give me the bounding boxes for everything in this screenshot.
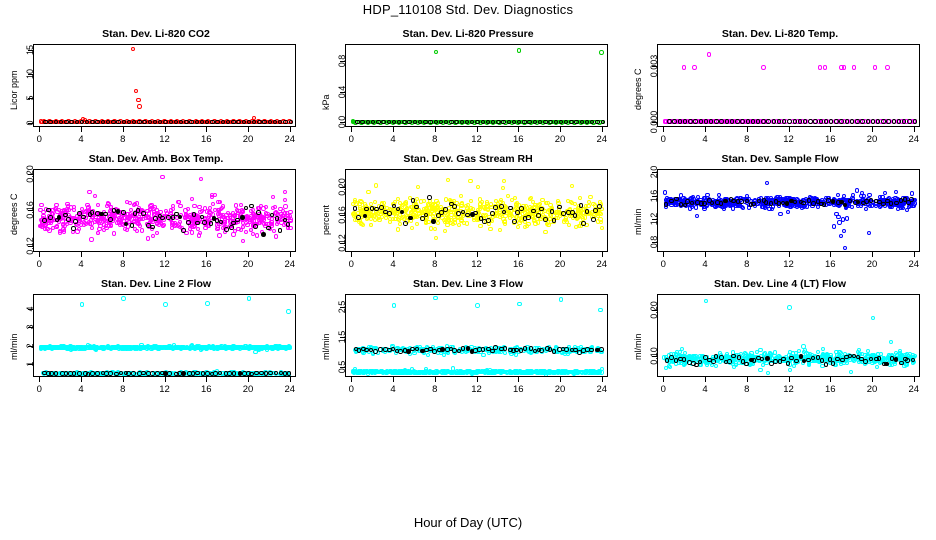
- x-tick-mark: [518, 252, 519, 257]
- data-point: [688, 119, 692, 123]
- x-tick-mark: [435, 377, 436, 382]
- data-point: [112, 345, 116, 349]
- x-tick-label: 4: [66, 259, 96, 270]
- data-point: [178, 215, 183, 220]
- x-tick-mark: [393, 252, 394, 257]
- data-point: [543, 217, 548, 222]
- data-point: [503, 346, 508, 351]
- data-point: [71, 226, 76, 231]
- data-point: [866, 119, 870, 123]
- x-tick-mark: [165, 127, 166, 132]
- y-tick-label: 2.0: [649, 156, 659, 188]
- data-point: [436, 221, 440, 225]
- data-point: [198, 210, 202, 214]
- data-point: [543, 230, 547, 234]
- data-point: [761, 119, 765, 123]
- data-point: [146, 236, 150, 240]
- data-point: [142, 120, 146, 124]
- x-tick-mark: [206, 252, 207, 257]
- data-point: [484, 205, 488, 209]
- x-tick-mark: [351, 252, 352, 257]
- data-point: [459, 202, 463, 206]
- data-point: [913, 119, 917, 123]
- x-tick-mark: [872, 127, 873, 132]
- data-point: [266, 345, 270, 349]
- data-point: [131, 47, 135, 51]
- data-point: [262, 120, 266, 124]
- data-point: [181, 228, 186, 233]
- data-point: [96, 231, 100, 235]
- data-point: [398, 222, 402, 226]
- data-point: [533, 221, 537, 225]
- plot-area: [345, 169, 608, 252]
- x-tick-label: 20: [233, 134, 263, 145]
- data-point: [459, 194, 463, 198]
- data-point: [253, 224, 258, 229]
- data-point: [55, 345, 59, 349]
- panel-title: Stan. Dev. Li-820 Temp.: [624, 28, 936, 40]
- plot-area: [33, 169, 296, 252]
- x-tick-mark: [602, 127, 603, 132]
- x-tick-mark: [789, 127, 790, 132]
- data-point: [272, 229, 276, 233]
- data-point: [287, 371, 292, 376]
- x-tick-label: 20: [857, 134, 887, 145]
- data-point: [516, 370, 520, 374]
- data-point: [723, 199, 728, 204]
- plot-area: [33, 294, 296, 377]
- data-point: [90, 120, 94, 124]
- data-point: [236, 120, 240, 124]
- data-point: [77, 219, 81, 223]
- data-point: [457, 223, 461, 227]
- data-point: [836, 215, 840, 219]
- x-tick-label: 8: [420, 134, 450, 145]
- data-point: [465, 221, 469, 225]
- data-point: [213, 346, 217, 350]
- data-point: [761, 65, 765, 69]
- data-point: [178, 204, 182, 208]
- x-tick-mark: [560, 127, 561, 132]
- x-tick-mark: [393, 127, 394, 132]
- data-point: [186, 220, 191, 225]
- x-tick-label: 4: [66, 134, 96, 145]
- x-tick-mark: [872, 252, 873, 257]
- data-point: [359, 369, 363, 373]
- data-point: [57, 215, 62, 220]
- x-tick-label: 16: [503, 134, 533, 145]
- data-point: [249, 372, 254, 377]
- data-point: [695, 214, 699, 218]
- plot-area: [345, 44, 608, 127]
- x-tick-mark: [435, 252, 436, 257]
- data-point: [288, 217, 292, 221]
- x-tick-label: 0: [648, 134, 678, 145]
- data-point: [836, 193, 840, 197]
- x-tick-mark: [39, 252, 40, 257]
- data-point: [526, 370, 530, 374]
- data-point: [96, 346, 100, 350]
- data-point: [64, 120, 68, 124]
- data-point: [173, 221, 177, 225]
- data-point: [499, 370, 503, 374]
- x-tick-mark: [477, 127, 478, 132]
- data-point: [215, 223, 219, 227]
- data-point: [403, 221, 408, 226]
- data-point: [832, 224, 836, 228]
- data-point: [449, 120, 453, 124]
- data-point: [95, 120, 99, 124]
- data-point: [218, 200, 222, 204]
- data-point: [192, 212, 197, 217]
- plot-area: [657, 294, 920, 377]
- data-point: [90, 226, 94, 230]
- data-point: [430, 203, 434, 207]
- data-point: [599, 50, 603, 54]
- data-point: [554, 210, 558, 214]
- data-point: [552, 349, 557, 354]
- data-point: [503, 214, 507, 218]
- data-point: [125, 346, 129, 350]
- data-point: [396, 227, 400, 231]
- data-point: [239, 228, 243, 232]
- y-tick-label: 2.5: [337, 291, 347, 323]
- data-point: [373, 200, 377, 204]
- x-tick-mark: [123, 377, 124, 382]
- x-tick-label: 24: [899, 134, 929, 145]
- data-point: [793, 119, 797, 123]
- data-point: [429, 226, 433, 230]
- x-tick-mark: [747, 127, 748, 132]
- data-point: [189, 120, 193, 124]
- data-point: [864, 207, 868, 211]
- data-point: [525, 224, 529, 228]
- data-point: [135, 345, 139, 349]
- data-point: [195, 120, 199, 124]
- data-point: [574, 225, 578, 229]
- x-tick-mark: [560, 252, 561, 257]
- data-point: [416, 185, 420, 189]
- data-point: [79, 345, 83, 349]
- data-point: [735, 119, 739, 123]
- data-point: [274, 344, 278, 348]
- data-point: [801, 201, 806, 206]
- data-point: [164, 209, 168, 213]
- data-point: [244, 230, 248, 234]
- data-point: [873, 65, 877, 69]
- data-point: [501, 186, 505, 190]
- data-point: [163, 302, 168, 307]
- data-point: [459, 218, 463, 222]
- x-tick-label: 8: [420, 259, 450, 270]
- x-tick-label: 12: [462, 259, 492, 270]
- data-point: [247, 296, 252, 301]
- data-point: [192, 204, 196, 208]
- data-point: [688, 206, 692, 210]
- data-point: [208, 206, 212, 210]
- data-point: [766, 119, 770, 123]
- data-point: [72, 371, 77, 376]
- data-point: [268, 371, 273, 376]
- panel-title: Stan. Dev. Sample Flow: [624, 153, 936, 165]
- x-tick-mark: [248, 127, 249, 132]
- data-point: [502, 179, 506, 183]
- data-point: [755, 350, 759, 354]
- data-point: [434, 50, 438, 54]
- x-tick-label: 4: [378, 134, 408, 145]
- data-point: [443, 229, 447, 233]
- x-tick-label: 24: [899, 259, 929, 270]
- data-point: [443, 207, 448, 212]
- panel-title: Stan. Dev. Amb. Box Temp.: [0, 153, 312, 165]
- x-tick-mark: [39, 377, 40, 382]
- data-point: [842, 229, 846, 233]
- panel-title: Stan. Dev. Line 4 (LT) Flow: [624, 278, 936, 290]
- y-tick-label: 0.16: [25, 194, 35, 226]
- panel-title: Stan. Dev. Gas Stream RH: [312, 153, 624, 165]
- y-axis-label: degrees C: [9, 193, 19, 235]
- panel-title: Stan. Dev. Line 3 Flow: [312, 278, 624, 290]
- y-tick-label: 1.5: [337, 321, 347, 353]
- data-point: [209, 221, 214, 226]
- data-point: [515, 210, 520, 215]
- data-point: [151, 207, 155, 211]
- data-point: [136, 98, 140, 102]
- data-point: [163, 346, 167, 350]
- x-tick-mark: [477, 252, 478, 257]
- data-point: [369, 217, 373, 221]
- data-point: [55, 224, 59, 228]
- data-point: [731, 206, 735, 210]
- data-point: [211, 202, 215, 206]
- data-point: [160, 175, 164, 179]
- data-point: [184, 120, 188, 124]
- data-point: [468, 179, 472, 183]
- data-point: [426, 353, 430, 357]
- figure-title: HDP_110108 Std. Dev. Diagnostics: [0, 2, 936, 17]
- x-tick-label: 0: [24, 259, 54, 270]
- data-point: [224, 227, 229, 232]
- data-point: [886, 119, 890, 123]
- data-point: [259, 204, 263, 208]
- data-point: [48, 215, 53, 220]
- data-point: [803, 119, 807, 123]
- data-point: [740, 119, 744, 123]
- x-tick-label: 20: [233, 384, 263, 395]
- x-tick-mark: [393, 377, 394, 382]
- data-point: [149, 251, 153, 252]
- data-point: [692, 65, 696, 69]
- y-tick-label: 0.20: [25, 158, 35, 190]
- x-tick-label: 12: [462, 134, 492, 145]
- data-point: [536, 213, 541, 218]
- data-point: [207, 214, 211, 218]
- data-point: [591, 217, 596, 222]
- data-point: [88, 221, 92, 225]
- x-tick-label: 0: [336, 134, 366, 145]
- data-point: [174, 346, 178, 350]
- data-point: [778, 212, 782, 216]
- data-point: [47, 221, 51, 225]
- x-tick-label: 16: [191, 134, 221, 145]
- data-point: [120, 217, 124, 221]
- x-tick-label: 16: [815, 259, 845, 270]
- data-point: [789, 205, 793, 209]
- data-point: [787, 119, 791, 123]
- data-point: [818, 65, 822, 69]
- x-tick-label: 4: [690, 134, 720, 145]
- data-point: [601, 120, 605, 124]
- data-point: [414, 205, 419, 210]
- x-tick-label: 12: [774, 134, 804, 145]
- panel-line2-flow: Stan. Dev. Line 2 Flow1234ml/min04812162…: [0, 278, 312, 405]
- data-point: [843, 246, 847, 250]
- data-point: [286, 222, 291, 227]
- data-point: [523, 346, 528, 351]
- data-point: [447, 370, 451, 374]
- y-axis-label: kPa: [321, 94, 331, 110]
- data-point: [75, 120, 79, 124]
- x-tick-mark: [602, 252, 603, 257]
- data-point: [910, 191, 914, 195]
- data-point: [544, 201, 548, 205]
- data-point: [785, 201, 790, 206]
- data-point: [426, 220, 430, 224]
- data-point: [693, 119, 697, 123]
- data-point: [585, 209, 590, 214]
- x-tick-mark: [663, 252, 664, 257]
- data-point: [44, 346, 48, 350]
- data-point: [155, 231, 159, 235]
- figure-canvas: HDP_110108 Std. Dev. Diagnostics Stan. D…: [0, 0, 936, 540]
- panel-sample-flow: Stan. Dev. Sample Flow0.81.21.62.0ml/min…: [624, 153, 936, 280]
- data-point: [116, 120, 120, 124]
- data-point: [751, 202, 756, 207]
- data-point: [909, 197, 914, 202]
- data-point: [548, 203, 552, 207]
- x-tick-label: 20: [545, 384, 575, 395]
- data-point: [106, 201, 110, 205]
- data-point: [217, 233, 221, 237]
- data-point: [255, 233, 259, 237]
- panel-gas-stream-rh: Stan. Dev. Gas Stream RH0.120.160.20perc…: [312, 153, 624, 280]
- data-point: [674, 201, 678, 205]
- data-point: [512, 219, 517, 224]
- data-point: [150, 371, 155, 376]
- data-point: [274, 234, 278, 238]
- panel-line3-flow: Stan. Dev. Line 3 Flow0.51.52.5ml/min048…: [312, 278, 624, 405]
- x-tick-label: 0: [24, 134, 54, 145]
- data-point: [245, 214, 249, 218]
- data-point: [549, 213, 553, 217]
- data-point: [251, 232, 255, 236]
- x-tick-label: 0: [336, 259, 366, 270]
- data-point: [147, 211, 151, 215]
- data-point: [839, 119, 843, 123]
- x-tick-mark: [165, 377, 166, 382]
- data-point: [232, 371, 237, 376]
- data-point: [195, 221, 200, 226]
- data-point: [597, 204, 602, 209]
- data-point: [493, 345, 498, 350]
- data-point: [258, 216, 262, 220]
- data-point: [596, 214, 600, 218]
- y-tick-label: 0.003: [649, 50, 659, 82]
- data-point: [137, 104, 141, 108]
- data-point: [478, 224, 482, 228]
- x-tick-mark: [663, 127, 664, 132]
- data-point: [876, 119, 880, 123]
- panel-title: Stan. Dev. Line 2 Flow: [0, 278, 312, 290]
- y-axis-label: degrees C: [633, 68, 643, 110]
- data-point: [685, 199, 690, 204]
- data-point: [140, 228, 144, 232]
- data-point: [198, 231, 202, 235]
- data-point: [369, 223, 373, 227]
- data-point: [889, 201, 894, 206]
- data-point: [271, 195, 275, 199]
- data-point: [493, 205, 498, 210]
- data-point: [593, 208, 598, 213]
- data-point: [87, 190, 91, 194]
- data-point: [488, 227, 492, 231]
- data-point: [411, 198, 416, 203]
- x-tick-label: 20: [545, 134, 575, 145]
- data-point: [808, 119, 812, 123]
- data-point: [270, 217, 274, 221]
- data-point: [134, 89, 138, 93]
- x-tick-label: 16: [191, 259, 221, 270]
- data-point: [892, 119, 896, 123]
- data-point: [579, 203, 584, 208]
- data-point: [83, 221, 87, 225]
- x-tick-label: 20: [857, 259, 887, 270]
- x-tick-label: 20: [545, 259, 575, 270]
- x-tick-label: 8: [732, 134, 762, 145]
- data-point: [54, 371, 59, 376]
- panel-line4-lt-flow: Stan. Dev. Line 4 (LT) Flow0.100.20ml/mi…: [624, 278, 936, 405]
- panel-title: Stan. Dev. Li-820 Pressure: [312, 28, 624, 40]
- data-point: [387, 211, 392, 216]
- data-point: [478, 197, 482, 201]
- data-point: [153, 216, 158, 221]
- data-point: [539, 348, 544, 353]
- data-point: [130, 223, 135, 228]
- data-point: [377, 215, 381, 219]
- x-tick-mark: [351, 377, 352, 382]
- data-point: [169, 120, 173, 124]
- data-point: [871, 119, 875, 123]
- data-point: [819, 119, 823, 123]
- y-axis-label: ml/min: [9, 333, 19, 360]
- data-point: [730, 119, 734, 123]
- data-point: [366, 190, 370, 194]
- x-tick-mark: [123, 252, 124, 257]
- data-point: [578, 196, 582, 200]
- x-tick-label: 4: [378, 259, 408, 270]
- y-tick-label: 0.8: [337, 45, 347, 77]
- data-point: [498, 228, 502, 232]
- data-point: [852, 65, 856, 69]
- data-point: [855, 188, 859, 192]
- data-point: [80, 302, 85, 307]
- data-point: [588, 195, 592, 199]
- data-point: [69, 120, 73, 124]
- data-point: [528, 197, 532, 201]
- y-tick-label: 0.12: [337, 227, 347, 259]
- data-point: [845, 216, 849, 220]
- x-tick-label: 8: [420, 384, 450, 395]
